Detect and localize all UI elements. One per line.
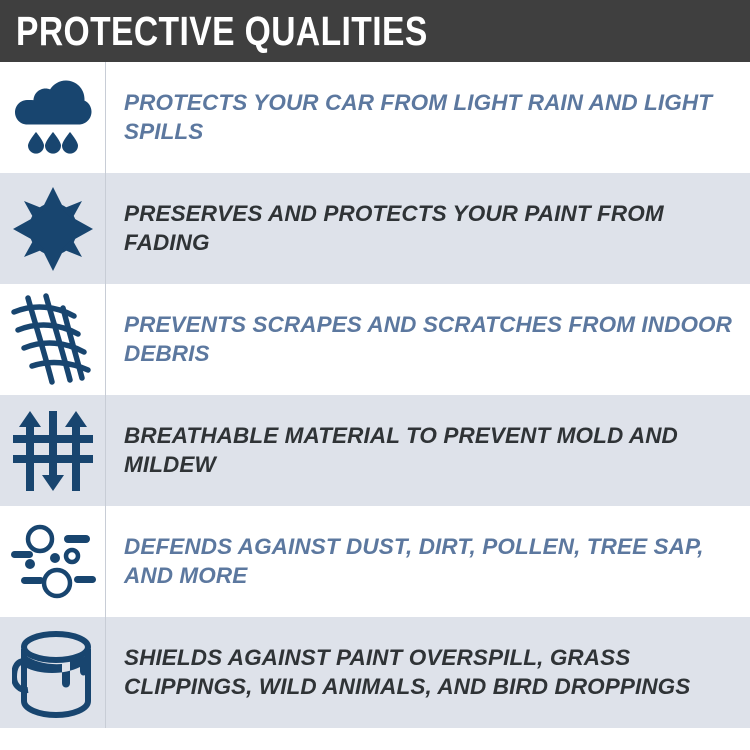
breathable-airflow-icon: [12, 407, 94, 495]
text-cell: PROTECTS YOUR CAR FROM LIGHT RAIN AND LI…: [106, 62, 750, 173]
feature-text: PROTECTS YOUR CAR FROM LIGHT RAIN AND LI…: [124, 89, 734, 147]
feature-row-dust: DEFENDS AGAINST DUST, DIRT, POLLEN, TREE…: [0, 506, 750, 617]
icon-cell: [0, 62, 106, 173]
feature-list: PROTECTS YOUR CAR FROM LIGHT RAIN AND LI…: [0, 62, 750, 728]
feature-text: SHIELDS AGAINST PAINT OVERSPILL, GRASS C…: [124, 644, 734, 702]
feature-text: PRESERVES AND PROTECTS YOUR PAINT FROM F…: [124, 200, 734, 258]
header-bar: PROTECTIVE QUALITIES: [0, 0, 750, 62]
bottom-strip: [0, 728, 750, 750]
icon-cell: [0, 395, 106, 506]
feature-text: DEFENDS AGAINST DUST, DIRT, POLLEN, TREE…: [124, 533, 734, 591]
icon-cell: [0, 617, 106, 728]
feature-row-paint: SHIELDS AGAINST PAINT OVERSPILL, GRASS C…: [0, 617, 750, 728]
feature-row-scratches: PREVENTS SCRAPES AND SCRATCHES FROM INDO…: [0, 284, 750, 395]
rain-cloud-icon: [14, 76, 92, 160]
dust-particles-icon: [8, 519, 98, 605]
protective-qualities-infographic: PROTECTIVE QUALITIES PROTECTS YOUR CAR F…: [0, 0, 750, 750]
feature-text: BREATHABLE MATERIAL TO PREVENT MOLD AND …: [124, 422, 734, 480]
page-title: PROTECTIVE QUALITIES: [16, 11, 428, 52]
text-cell: SHIELDS AGAINST PAINT OVERSPILL, GRASS C…: [106, 617, 750, 728]
sun-icon: [11, 185, 95, 273]
icon-cell: [0, 173, 106, 284]
feature-row-sun: PRESERVES AND PROTECTS YOUR PAINT FROM F…: [0, 173, 750, 284]
paint-can-icon: [12, 627, 94, 719]
text-cell: BREATHABLE MATERIAL TO PREVENT MOLD AND …: [106, 395, 750, 506]
text-cell: PREVENTS SCRAPES AND SCRATCHES FROM INDO…: [106, 284, 750, 395]
text-cell: PRESERVES AND PROTECTS YOUR PAINT FROM F…: [106, 173, 750, 284]
scratches-icon: [8, 292, 98, 388]
feature-row-breathable: BREATHABLE MATERIAL TO PREVENT MOLD AND …: [0, 395, 750, 506]
feature-row-rain: PROTECTS YOUR CAR FROM LIGHT RAIN AND LI…: [0, 62, 750, 173]
icon-cell: [0, 284, 106, 395]
text-cell: DEFENDS AGAINST DUST, DIRT, POLLEN, TREE…: [106, 506, 750, 617]
icon-cell: [0, 506, 106, 617]
feature-text: PREVENTS SCRAPES AND SCRATCHES FROM INDO…: [124, 311, 734, 369]
